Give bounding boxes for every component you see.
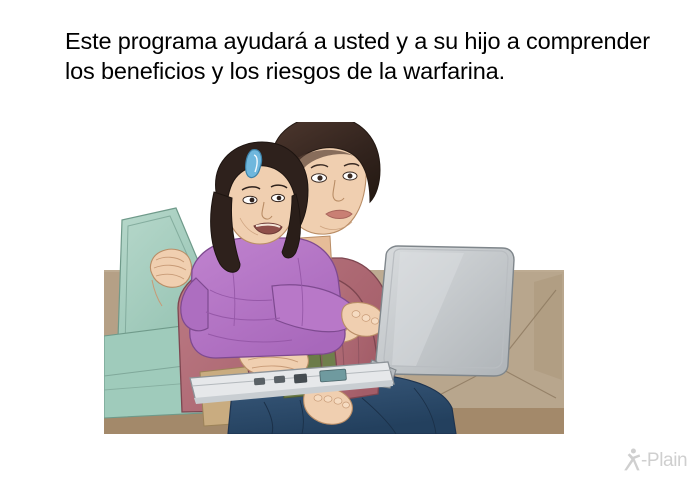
slide-root: Este programa ayudará a usted y a su hij… — [0, 0, 700, 480]
x-plain-logo: -Plain — [622, 447, 692, 473]
page-title: Este programa ayudará a usted y a su hij… — [65, 26, 655, 86]
illustration-svg — [104, 122, 564, 434]
logo-text: -Plain — [641, 451, 687, 470]
illustration-mother-and-child-with-laptop — [104, 122, 564, 434]
x-plain-figure-mark-icon — [622, 448, 642, 472]
